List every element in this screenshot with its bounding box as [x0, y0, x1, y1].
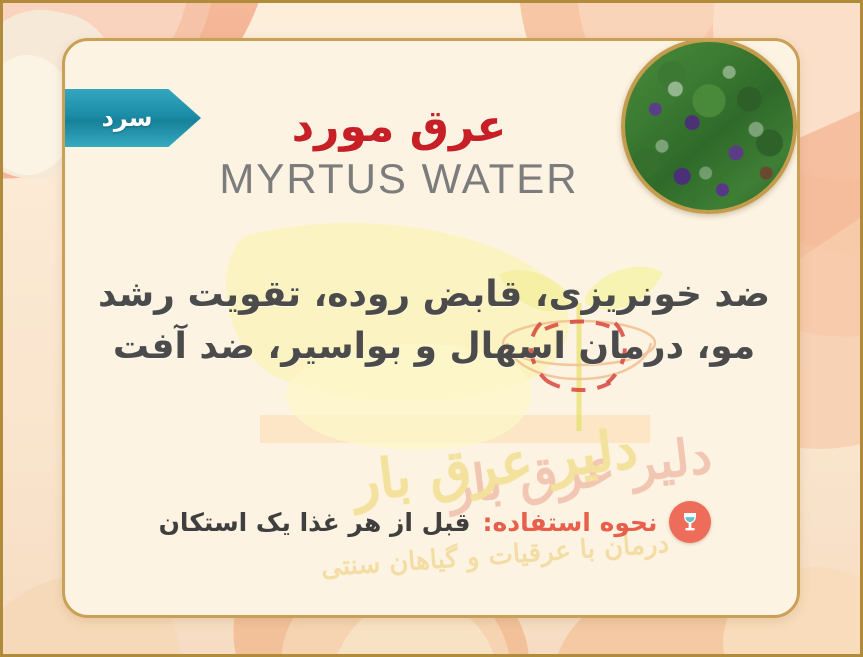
description-block: ضد خونریزی، قابض روده، تقویت رشد مو، درم…: [79, 269, 789, 373]
page-title-en: MYRTUS WATER: [65, 155, 800, 203]
usage-text: قبل از هر غذا یک استکان: [159, 508, 471, 537]
description-line-1: ضد خونریزی، قابض روده، تقویت رشد: [79, 269, 789, 321]
description-line-2: مو، درمان اسهال و بواسیر، ضد آفت: [79, 321, 789, 373]
title-block: عرق مورد MYRTUS WATER: [65, 103, 800, 203]
badge-edge: [62, 89, 63, 147]
usage-row: نحوه استفاده: قبل از هر غذا یک استکان: [105, 501, 765, 543]
decorative-band: [260, 415, 650, 443]
usage-label: نحوه استفاده:: [483, 508, 658, 537]
product-card: دلیر عرق بار دلیر عرق بار درمان با عرقیا…: [62, 38, 800, 618]
page-title-fa: عرق مورد: [65, 103, 800, 151]
wine-glass-icon: [669, 501, 711, 543]
